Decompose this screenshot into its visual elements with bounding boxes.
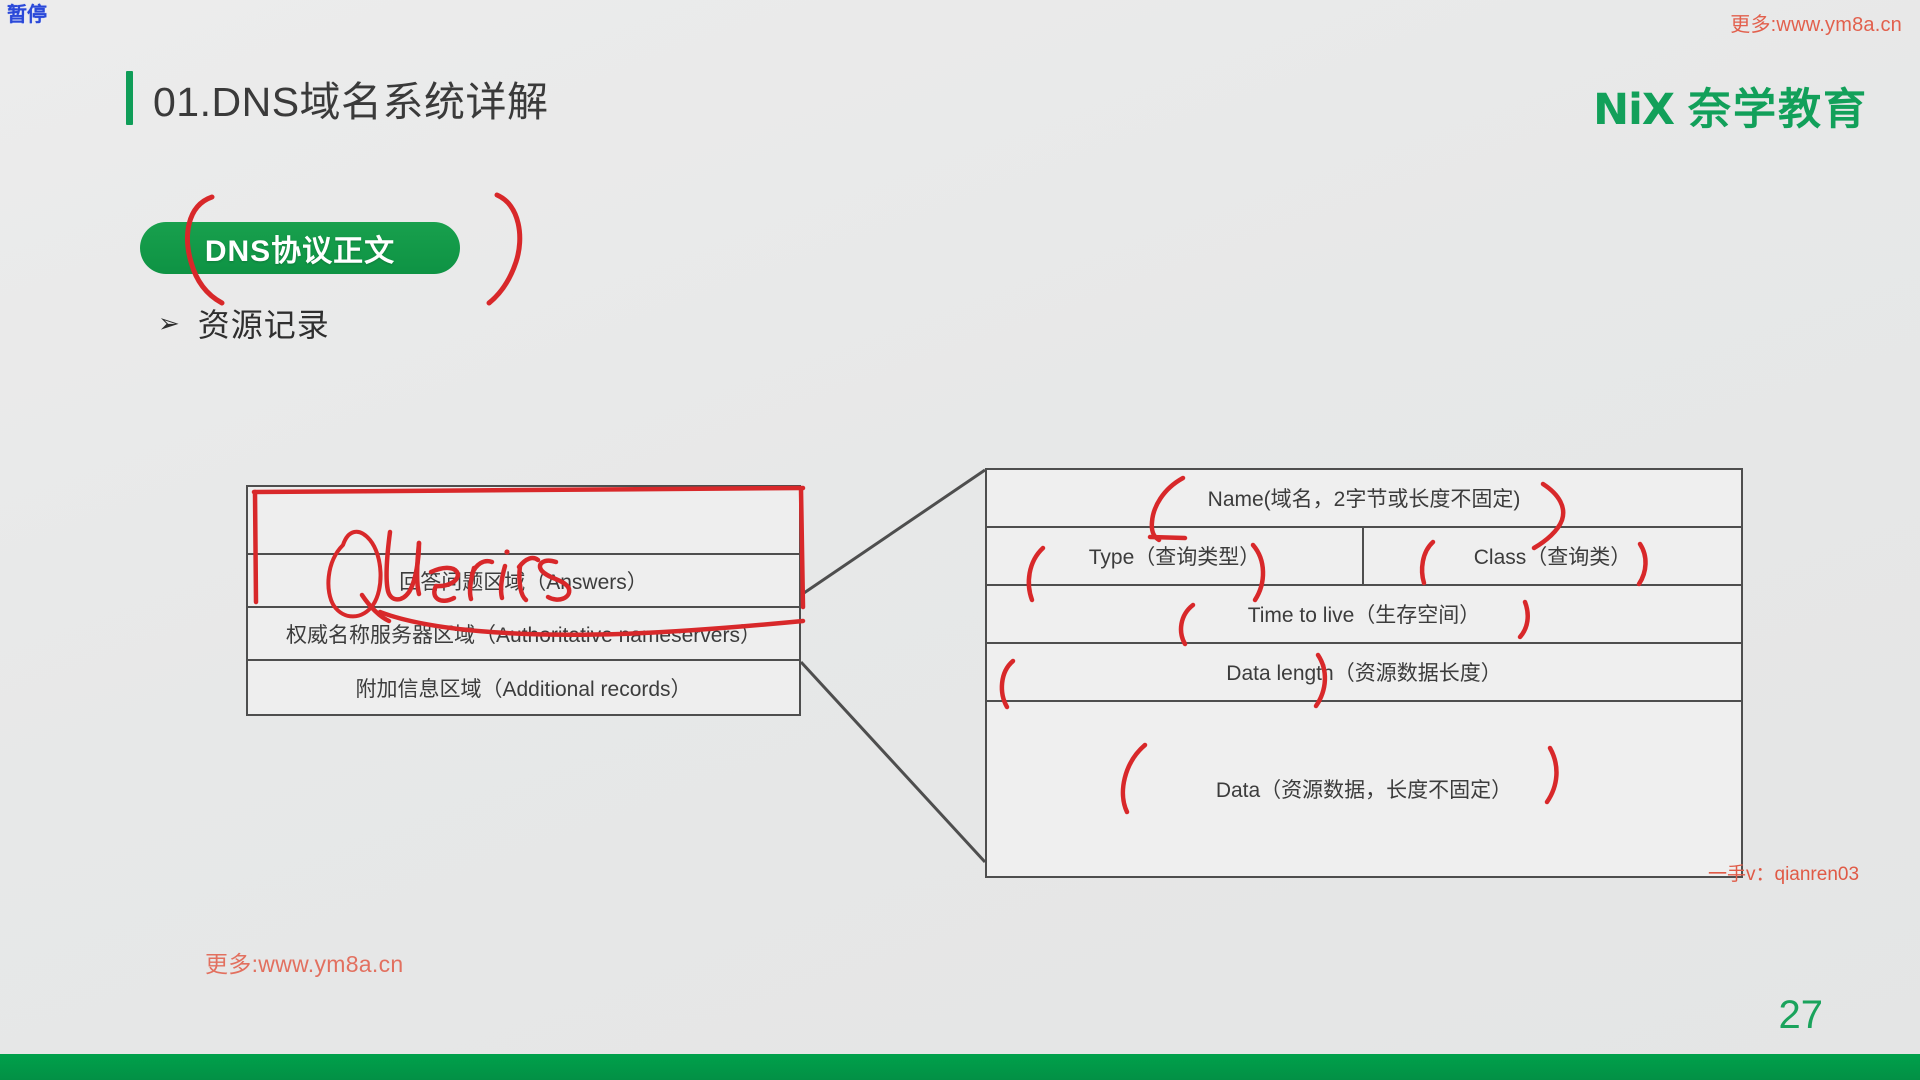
table-row: 回答问题区域（Answers） <box>248 555 799 608</box>
watermark-top-right: 更多:www.ym8a.cn <box>1730 8 1902 37</box>
section-pill: DNS协议正文 <box>140 222 460 274</box>
arrow-bullet-icon: ➢ <box>158 310 180 336</box>
brand-logo: NiX 奈学教育 <box>1593 75 1868 137</box>
brand-name-label: 奈学教育 <box>1688 75 1868 137</box>
bullet-label: 资源记录 <box>198 300 330 346</box>
table-cell-type: Type（查询类型） <box>987 528 1364 584</box>
slide-header: 01.DNS域名系统详解 <box>126 68 549 128</box>
page-title: 01.DNS域名系统详解 <box>153 68 549 128</box>
pause-badge: 暂停 <box>7 5 47 25</box>
table-row-data-length: Data length（资源数据长度） <box>987 644 1741 702</box>
table-row: 附加信息区域（Additional records） <box>248 661 799 714</box>
footer-bar <box>0 1054 1920 1080</box>
table-row-data: Data（资源数据，长度不固定） <box>987 702 1741 876</box>
page-number: 27 <box>1779 993 1824 1038</box>
table-row: 权威名称服务器区域（Authoritative nameservers） <box>248 608 799 661</box>
bullet-row: ➢ 资源记录 <box>158 300 330 346</box>
table-row-name: Name(域名，2字节或长度不固定) <box>987 470 1741 528</box>
slide-canvas: 暂停 更多:www.ym8a.cn 01.DNS域名系统详解 NiX 奈学教育 … <box>0 0 1920 1080</box>
table-row-ttl: Time to live（生存空间） <box>987 586 1741 644</box>
brand-mark-icon: NiX <box>1593 85 1674 135</box>
title-accent-bar <box>126 71 133 125</box>
table-row-type-class: Type（查询类型） Class（查询类） <box>987 528 1741 586</box>
wechat-contact-note: 一手v：qianren03 <box>1708 859 1859 886</box>
resource-record-fields-box: Name(域名，2字节或长度不固定) Type（查询类型） Class（查询类）… <box>985 468 1743 878</box>
table-cell-class: Class（查询类） <box>1364 528 1741 584</box>
watermark-bottom-left: 更多:www.ym8a.cn <box>205 945 403 979</box>
section-pill-label: DNS协议正文 <box>205 226 395 270</box>
table-row <box>248 487 799 555</box>
dns-message-sections-box: 回答问题区域（Answers） 权威名称服务器区域（Authoritative … <box>246 485 801 716</box>
